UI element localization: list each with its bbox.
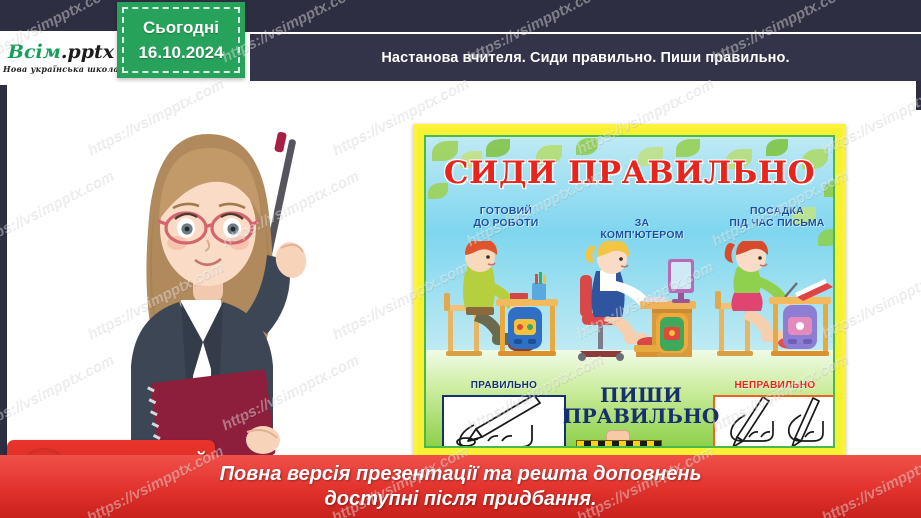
bottom-title-line-1: ПИШИ xyxy=(551,385,731,406)
today-date-badge: Сьогодні 16.10.2024 xyxy=(117,2,245,78)
poster-column-heading-writing: ПОСАДКА ПІД ЧАС ПИСЬМА xyxy=(711,205,835,230)
heading-line-2: ПІД ЧАС ПИСЬМА xyxy=(711,217,835,229)
ruler-stripes-icon xyxy=(576,440,662,448)
heading-line-1: ЗА xyxy=(576,217,708,229)
incorrect-pen-grip-icon xyxy=(715,397,835,448)
heading-line-1: ПОСАДКА xyxy=(711,205,835,217)
correct-pen-grip-icon xyxy=(444,397,564,448)
slide-header-bar: Настанова вчителя. Сиди правильно. Пиши … xyxy=(250,32,921,81)
teacher-illustration xyxy=(95,88,345,463)
poster-title: СИДИ ПРАВИЛЬНО xyxy=(426,155,833,191)
today-label: Сьогодні xyxy=(143,18,219,38)
scene-girl-at-computer xyxy=(572,241,712,369)
boy-at-desk-icon xyxy=(438,241,570,369)
badge-notch xyxy=(217,5,239,41)
presentation-slide: Настанова вчителя. Сиди правильно. Пиши … xyxy=(0,0,921,518)
purchase-notice-banner: Повна версія презентації та решта доповн… xyxy=(0,455,921,518)
label-correct-grip: ПРАВИЛЬНО xyxy=(440,380,568,391)
poster-column-heading-ready: ГОТОВИЙ ДО РОБОТИ xyxy=(440,205,572,230)
poster-column-heading-computer: ЗА КОМП'ЮТЕРОМ xyxy=(576,217,708,242)
bottom-title-line-2: ПРАВИЛЬНО xyxy=(551,406,731,427)
teacher-svg xyxy=(95,88,345,463)
brand-logo-text: Всім.pptx xyxy=(8,43,114,62)
today-date-value: 16.10.2024 xyxy=(138,43,223,63)
brand-logo-prefix: Всім xyxy=(8,41,61,63)
scene-girl-writing xyxy=(711,241,835,369)
poster-bottom-title: ПИШИ ПРАВИЛЬНО xyxy=(551,385,731,427)
banner-line-2: доступні після придбання. xyxy=(324,487,596,511)
girl-at-computer-icon xyxy=(572,241,712,369)
scene-boy-at-desk xyxy=(438,241,570,369)
illustration-correct-grip xyxy=(442,395,566,448)
poster-inner: СИДИ ПРАВИЛЬНО ГОТОВИЙ ДО РОБОТИ ЗА КОМП… xyxy=(424,135,835,448)
classroom-poster: СИДИ ПРАВИЛЬНО ГОТОВИЙ ДО РОБОТИ ЗА КОМП… xyxy=(413,124,846,459)
brand-logo-tagline: Нова українська школа xyxy=(3,64,119,74)
brand-logo[interactable]: Всім.pptx Нова українська школа xyxy=(0,31,122,85)
heading-line-2: ДО РОБОТИ xyxy=(440,217,572,229)
page-title: Настанова вчителя. Сиди правильно. Пиши … xyxy=(381,50,789,66)
banner-line-1: Повна версія презентації та решта доповн… xyxy=(220,462,702,486)
heading-line-2: КОМП'ЮТЕРОМ xyxy=(576,229,708,241)
illustration-incorrect-grip xyxy=(713,395,835,448)
heading-line-1: ГОТОВИЙ xyxy=(440,205,572,217)
brand-logo-suffix: .pptx xyxy=(61,41,114,63)
girl-writing-icon xyxy=(711,241,835,369)
